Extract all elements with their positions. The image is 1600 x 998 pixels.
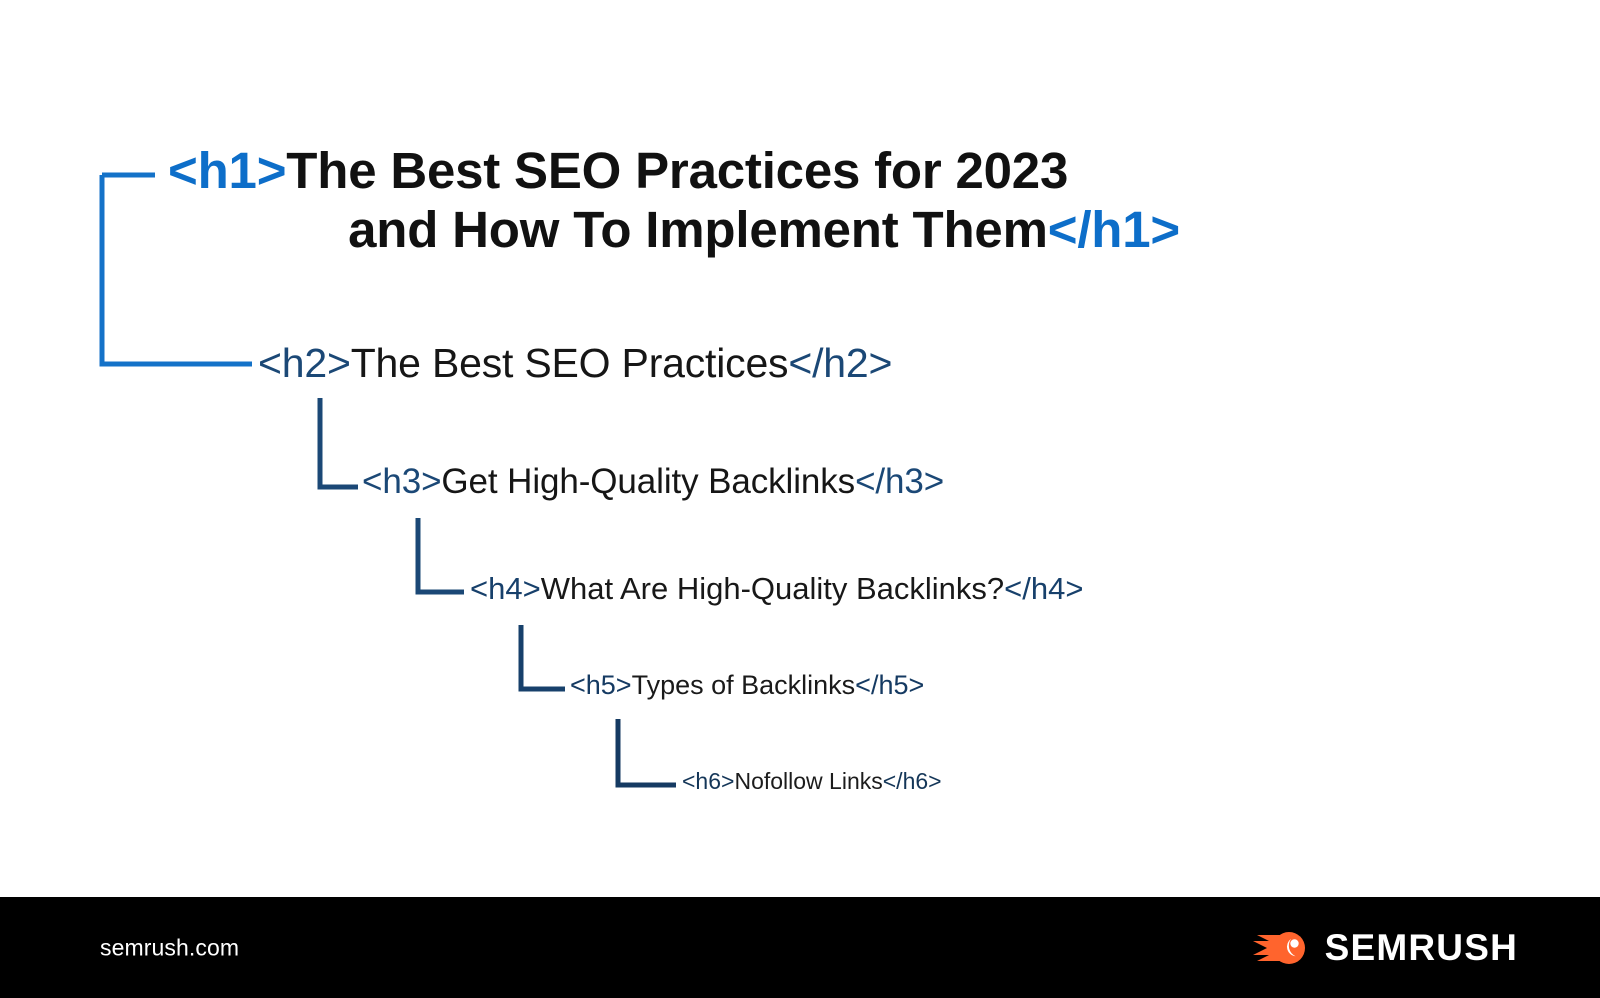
- heading-node-h2: <h2>The Best SEO Practices</h2>: [258, 340, 892, 388]
- connector-h4-to-h5: [521, 625, 565, 689]
- heading-node-h6: <h6>Nofollow Links</h6>: [682, 768, 942, 795]
- heading-h1-line-2: and How To Implement Them</h1>: [168, 200, 1180, 259]
- heading-node-h1: <h1>The Best SEO Practices for 2023 and …: [168, 141, 1180, 259]
- connector-h5-to-h6: [618, 719, 676, 785]
- infographic-canvas: <h1>The Best SEO Practices for 2023 and …: [0, 0, 1600, 998]
- h4-close-tag: </h4>: [1004, 571, 1083, 606]
- h3-text: Get High-Quality Backlinks: [441, 462, 855, 501]
- footer-website-url: semrush.com: [100, 934, 239, 961]
- connector-h3-to-h4: [418, 518, 464, 592]
- connector-h2-to-h3: [320, 398, 358, 487]
- h4-text: What Are High-Quality Backlinks?: [541, 571, 1004, 606]
- semrush-logo: SEMRUSH: [1251, 927, 1518, 969]
- heading-hierarchy-diagram: <h1>The Best SEO Practices for 2023 and …: [0, 0, 1600, 897]
- h1-close-tag: </h1>: [1048, 201, 1180, 258]
- heading-node-h4: <h4>What Are High-Quality Backlinks?</h4…: [470, 571, 1083, 607]
- h2-close-tag: </h2>: [788, 340, 892, 386]
- h6-close-tag: </h6>: [883, 768, 942, 794]
- h4-open-tag: <h4>: [470, 571, 541, 606]
- h1-text-line-1: The Best SEO Practices for 2023: [286, 142, 1068, 199]
- comet-highlight: [1290, 939, 1298, 947]
- heading-node-h5: <h5>Types of Backlinks</h5>: [570, 670, 924, 701]
- connector-lines: [0, 0, 1600, 897]
- h3-close-tag: </h3>: [855, 462, 944, 501]
- semrush-comet-icon: [1251, 927, 1309, 969]
- h1-text-line-2: and How To Implement Them: [348, 201, 1048, 258]
- h1-open-tag: <h1>: [168, 142, 286, 199]
- h6-open-tag: <h6>: [682, 768, 734, 794]
- heading-node-h3: <h3>Get High-Quality Backlinks</h3>: [362, 462, 944, 503]
- h2-open-tag: <h2>: [258, 340, 351, 386]
- h2-text: The Best SEO Practices: [351, 340, 789, 386]
- h5-text: Types of Backlinks: [632, 670, 856, 700]
- h5-open-tag: <h5>: [570, 670, 632, 700]
- h3-open-tag: <h3>: [362, 462, 441, 501]
- h5-close-tag: </h5>: [855, 670, 924, 700]
- h6-text: Nofollow Links: [734, 768, 882, 794]
- heading-h1-line-1: <h1>The Best SEO Practices for 2023: [168, 141, 1180, 200]
- footer-bar: semrush.com SEMRUSH: [0, 897, 1600, 998]
- semrush-wordmark: SEMRUSH: [1325, 927, 1518, 969]
